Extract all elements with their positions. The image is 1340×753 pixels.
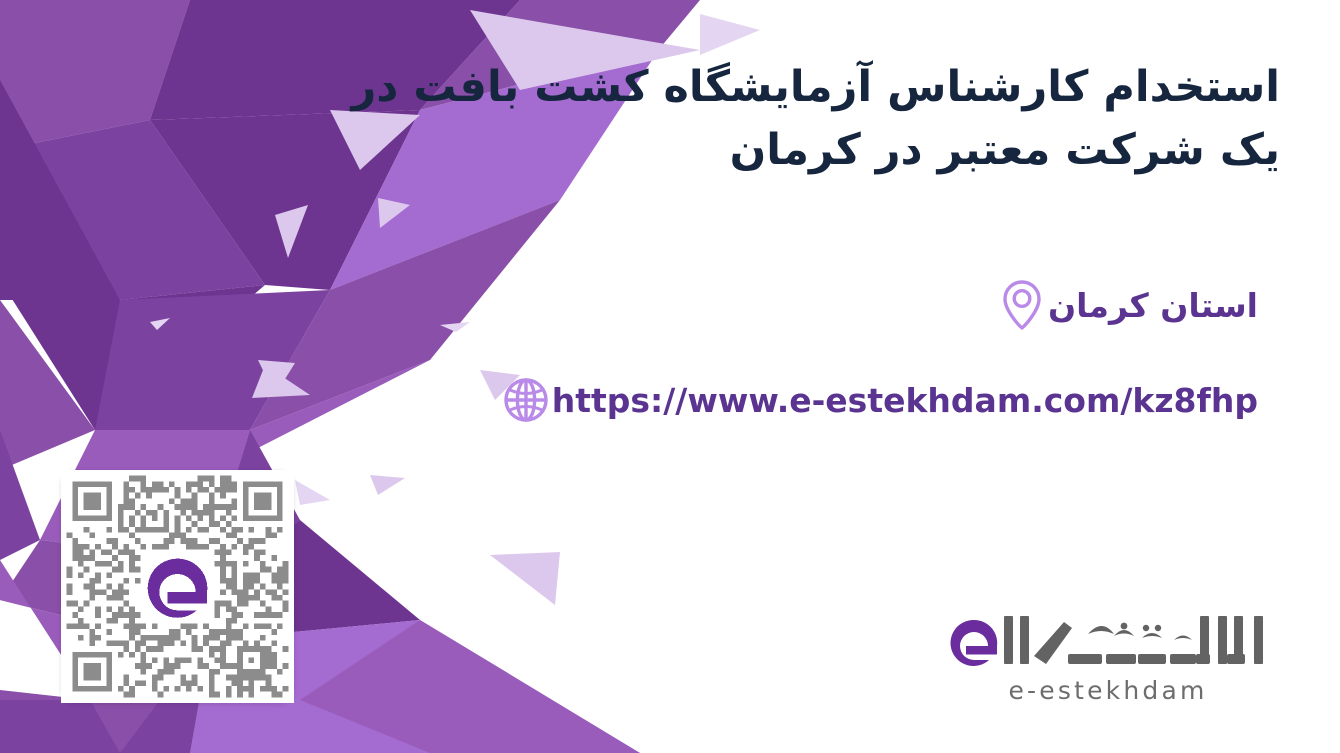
globe-icon [500, 372, 552, 428]
brand-logo: e-estekhdam [938, 612, 1278, 705]
logo-wordmark-en: e-estekhdam [938, 676, 1278, 705]
job-title-line-1: استخدام کارشناس آزمایشگاه کشت بافت در [380, 56, 1280, 119]
qr-center-logo [142, 551, 214, 623]
job-ad-card: استخدام کارشناس آزمایشگاه کشت بافت در یک… [0, 0, 1340, 753]
logo-wordmark-fa [938, 612, 1278, 674]
map-pin-icon [996, 277, 1048, 333]
location-row: استان کرمان [996, 277, 1280, 333]
website-url-text[interactable]: https://www.e-estekhdam.com/kz8fhp [552, 384, 1258, 417]
qr-code[interactable] [61, 470, 294, 703]
website-row[interactable]: https://www.e-estekhdam.com/kz8fhp [500, 372, 1280, 428]
location-text: استان کرمان [1048, 289, 1258, 322]
job-title: استخدام کارشناس آزمایشگاه کشت بافت در یک… [380, 56, 1280, 182]
job-title-line-2: یک شرکت معتبر در کرمان [380, 119, 1280, 182]
